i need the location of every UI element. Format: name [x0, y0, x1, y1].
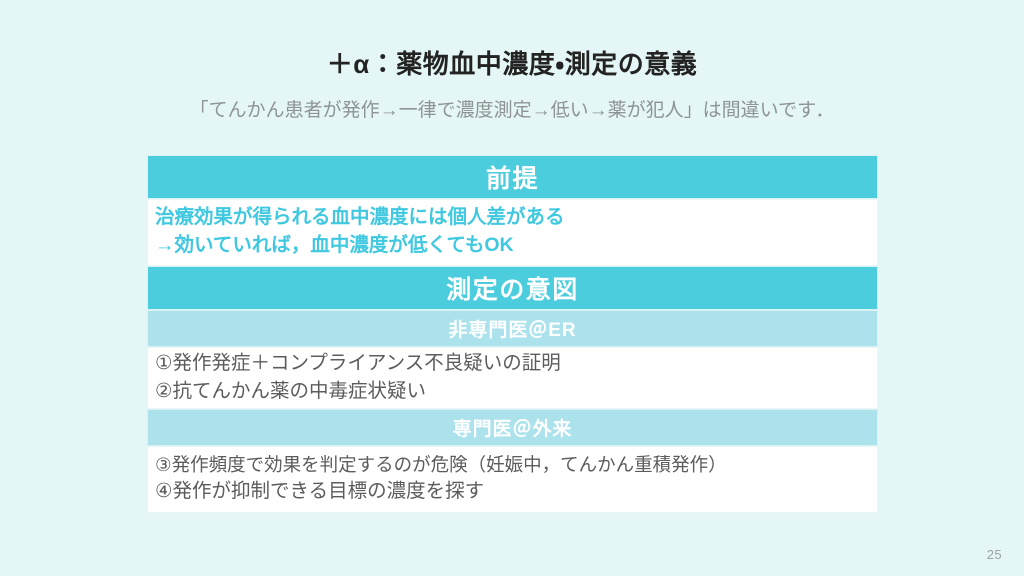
- page-number: 25: [987, 547, 1002, 562]
- slide-root: ＋α：薬物血中濃度・測定の意義 「てんかん患者が発作→一律で濃度測定→低い→薬が…: [0, 0, 1024, 576]
- section-body-premise: 治療効果が得られる血中濃度には個人差がある →効いていれば，血中濃度が低くてもO…: [147, 199, 878, 266]
- section-body-nonspecialist-er: ①発作発症＋コンプライアンス不良疑いの証明 ②抗てんかん薬の中毒症状疑い: [147, 347, 878, 409]
- section-header-premise: 前提: [147, 155, 878, 199]
- section-header-measurement-intent: 測定の意図: [147, 266, 878, 310]
- body-line: ③発作頻度で効果を判定するのが危険（妊娠中，てんかん重積発作）: [155, 452, 869, 478]
- page-title: ＋α：薬物血中濃度・測定の意義: [0, 48, 1024, 81]
- body-line: →効いていれば，血中濃度が低くてもOK: [155, 232, 869, 260]
- body-line: ①発作発症＋コンプライアンス不良疑いの証明: [155, 350, 869, 378]
- body-line: 治療効果が得られる血中濃度には個人差がある: [155, 204, 869, 232]
- body-line: ②抗てんかん薬の中毒症状疑い: [155, 378, 869, 406]
- section-body-specialist-outpatient: ③発作頻度で効果を判定するのが危険（妊娠中，てんかん重積発作） ④発作が抑制でき…: [147, 446, 878, 513]
- section-header-nonspecialist-er: 非専門医＠ER: [147, 310, 878, 347]
- slide-subtitle: 「てんかん患者が発作→一律で濃度測定→低い→薬が犯人」は間違いです．: [0, 99, 1024, 124]
- content-table: 前提 治療効果が得られる血中濃度には個人差がある →効いていれば，血中濃度が低く…: [147, 155, 878, 513]
- body-line: ④発作が抑制できる目標の濃度を探す: [155, 478, 869, 506]
- section-header-specialist-outpatient: 専門医＠外来: [147, 409, 878, 446]
